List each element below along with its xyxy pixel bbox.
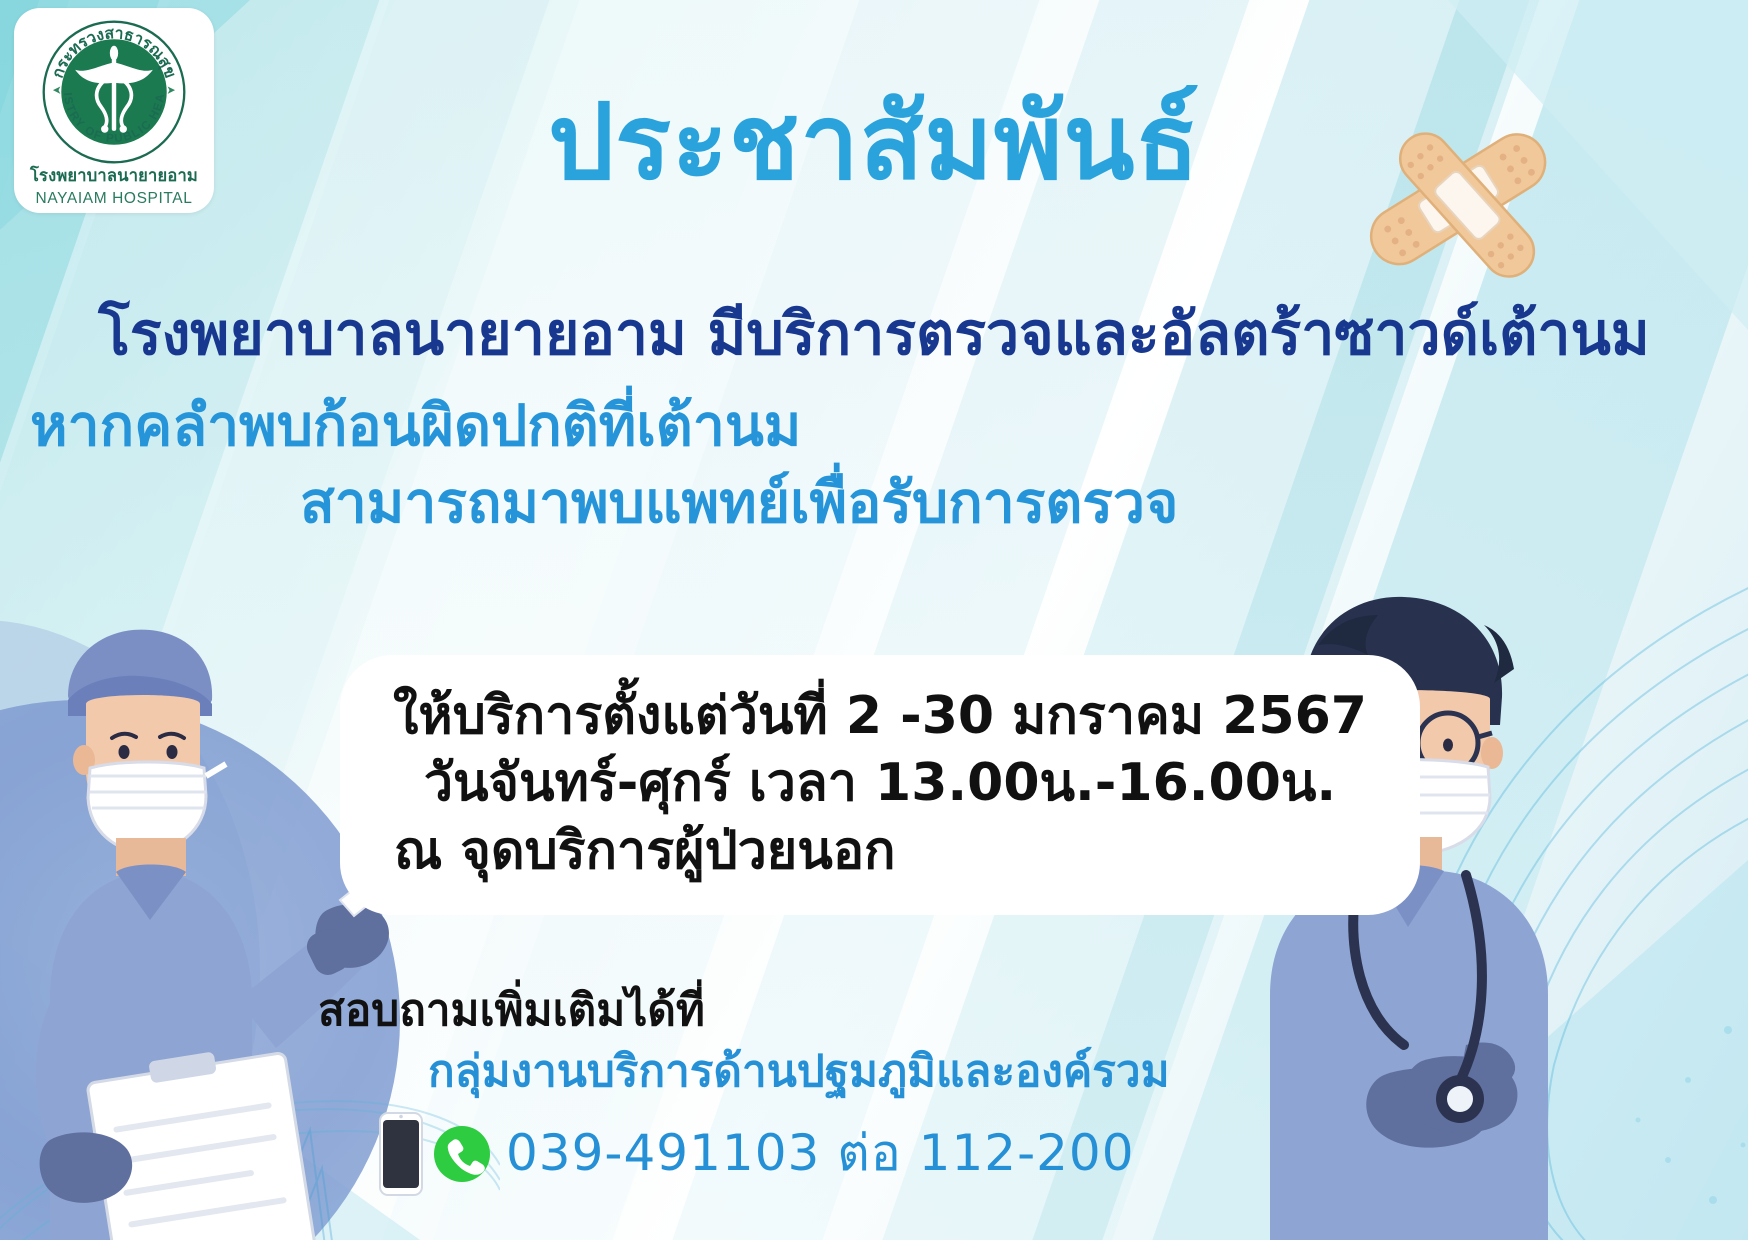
- service-details-box: ให้บริการตั้งแต่วันที่ 2 -30 มกราคม 2567…: [340, 655, 1420, 915]
- contact-heading: สอบถามเพิ่มเติมได้ที่: [318, 985, 1418, 1038]
- intro-line-1: โรงพยาบาลนายายอาม มีบริการตรวจและอัลตร้า…: [0, 300, 1748, 368]
- contact-block: สอบถามเพิ่มเติมได้ที่ กลุ่มงานบริการด้าน…: [318, 985, 1418, 1197]
- phone-row: 039-491103 ต่อ 112-200: [318, 1111, 1418, 1197]
- smartphone-icon: [378, 1111, 424, 1197]
- service-hours: วันจันทร์-ศุกร์ เวลา 13.00น.-16.00น.: [380, 750, 1380, 818]
- service-location: ณ จุดบริการผู้ป่วยนอก: [380, 818, 1380, 886]
- phone-call-icon[interactable]: [432, 1124, 492, 1184]
- contact-department: กลุ่มงานบริการด้านปฐมภูมิและองค์รวม: [318, 1046, 1418, 1099]
- intro-line-3: สามารถมาพบแพทย์เพื่อรับการตรวจ: [0, 471, 1748, 537]
- service-dates: ให้บริการตั้งแต่วันที่ 2 -30 มกราคม 2567: [380, 683, 1380, 751]
- poster-canvas: กระทรวงสาธารณสุข MINISTRY OF PUBLIC HEAL…: [0, 0, 1748, 1240]
- intro-text-block: โรงพยาบาลนายายอาม มีบริการตรวจและอัลตร้า…: [0, 300, 1748, 537]
- page-title: ประชาสัมพันธ์: [0, 88, 1748, 197]
- intro-line-2: หากคลำพบก้อนผิดปกติที่เต้านม: [0, 394, 1748, 460]
- phone-number[interactable]: 039-491103 ต่อ 112-200: [506, 1114, 1135, 1193]
